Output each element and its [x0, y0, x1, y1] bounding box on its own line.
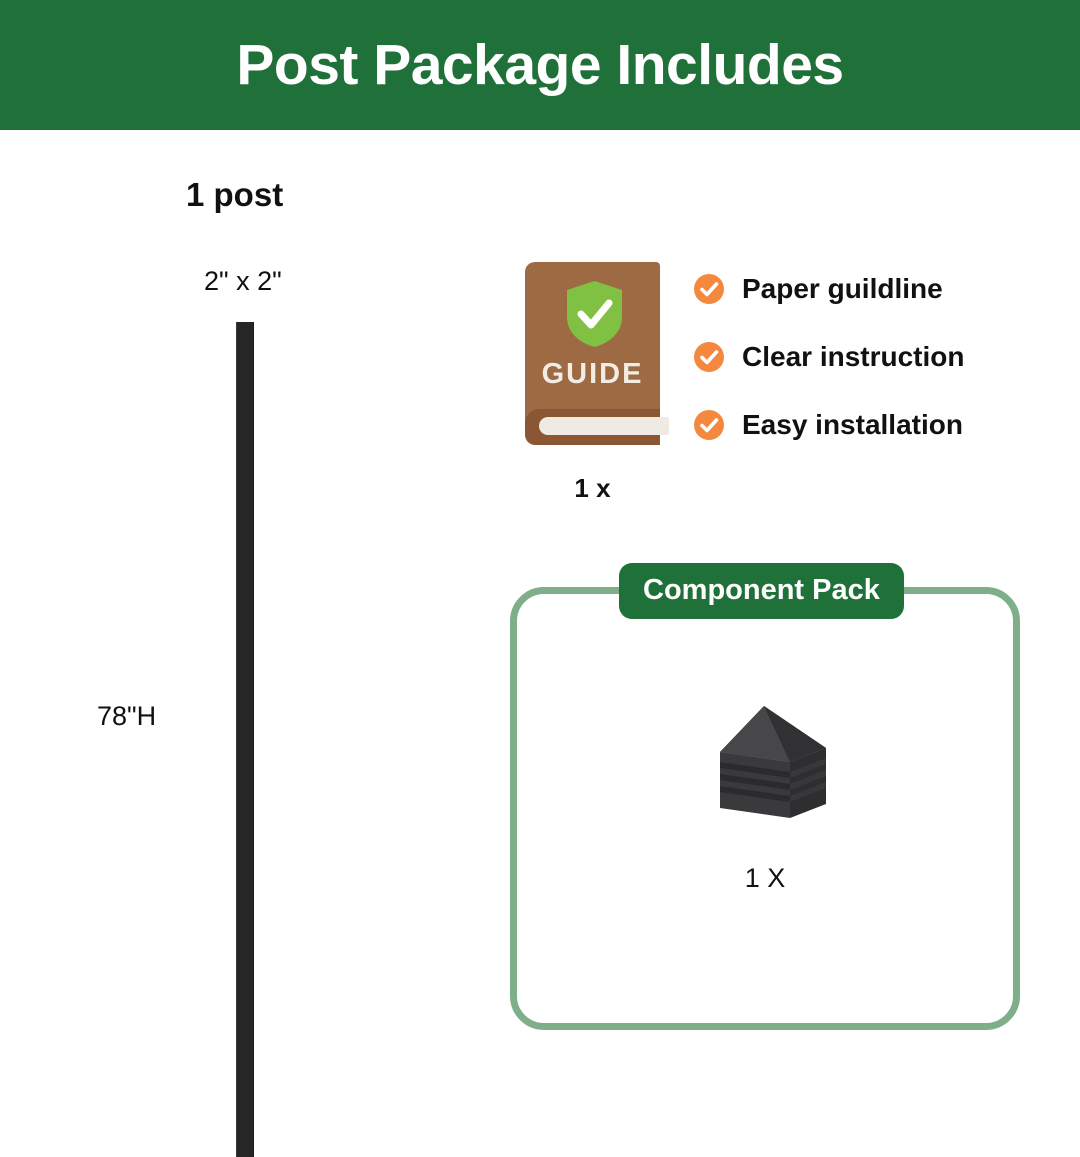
component-quantity-label: 1 X [660, 865, 870, 892]
guide-book-graphic: GUIDE [525, 262, 660, 445]
feature-label: Paper guildline [742, 275, 943, 303]
book-cover: GUIDE [525, 262, 660, 445]
header-banner: Post Package Includes [0, 0, 1080, 130]
post-cap-graphic [702, 700, 832, 825]
post-quantity-title: 1 post [186, 178, 283, 211]
list-item: Easy installation [694, 408, 1034, 442]
guide-quantity-label: 1 x [525, 475, 660, 501]
book-guide-label: GUIDE [525, 360, 660, 389]
book-pages-edge [539, 417, 669, 435]
feature-label: Easy installation [742, 411, 963, 439]
component-pack-badge: Component Pack [619, 563, 904, 619]
shield-check-icon [567, 281, 622, 347]
list-item: Paper guildline [694, 272, 1034, 306]
feature-label: Clear instruction [742, 343, 964, 371]
check-circle-icon [694, 342, 724, 372]
post-illustration-section: 1 post 2" x 2" 78"H [0, 130, 470, 1035]
post-bar-graphic [236, 322, 254, 1157]
post-height-dimension-label: 78"H [97, 703, 156, 730]
list-item: Clear instruction [694, 340, 1034, 374]
check-circle-icon [694, 410, 724, 440]
post-width-dimension-label: 2" x 2" [204, 268, 282, 295]
check-circle-icon [694, 274, 724, 304]
feature-list: Paper guildline Clear instruction Easy i… [694, 272, 1034, 476]
page-title: Post Package Includes [236, 37, 843, 94]
